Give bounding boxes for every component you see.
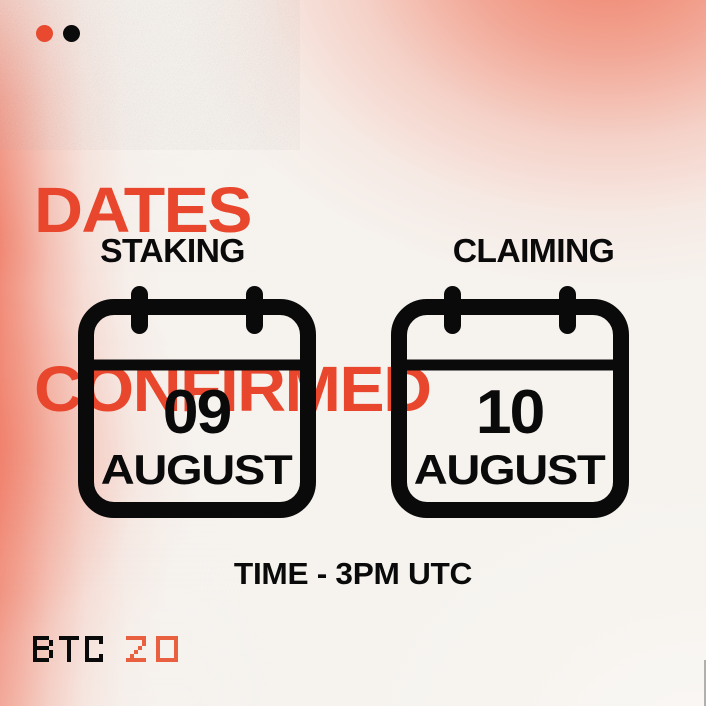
calendar-row: 09 AUGUST 10 AUGUST — [0, 286, 706, 518]
event-time-text: TIME - 3PM UTC — [0, 556, 706, 592]
column-labels: STAKING CLAIMING — [0, 232, 706, 270]
column-label-staking: STAKING — [7, 232, 339, 270]
calendar-icon — [391, 286, 629, 518]
dot-orange-icon — [36, 25, 53, 42]
calendar-claiming: 10 AUGUST — [391, 286, 629, 518]
logo-btc-mark — [33, 636, 117, 662]
decorative-dots — [36, 25, 80, 42]
calendar-staking: 09 AUGUST — [78, 286, 316, 518]
calendar-icon — [78, 286, 316, 518]
brand-logo — [33, 636, 180, 662]
column-label-claiming: CLAIMING — [368, 232, 700, 270]
dot-black-icon — [63, 25, 80, 42]
poster-canvas: DATES CONFIRMED STAKING CLAIMING 09 AUGU… — [0, 0, 706, 706]
logo-20-mark — [126, 636, 180, 662]
